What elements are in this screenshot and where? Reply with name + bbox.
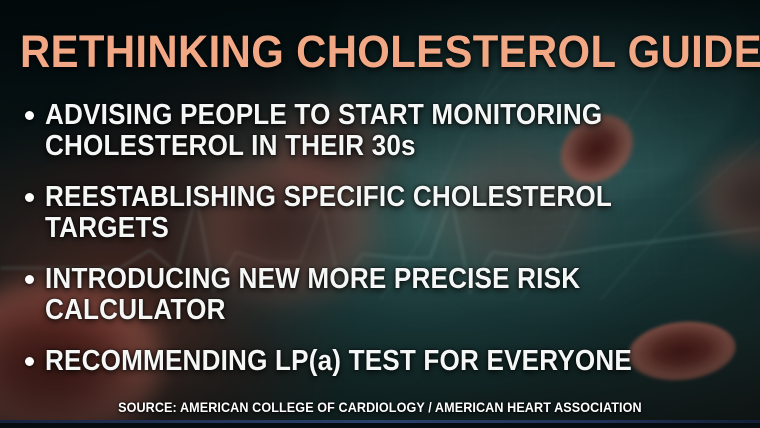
bullet-dot-icon [25, 193, 34, 202]
bottom-letterbox-bar [0, 423, 760, 428]
list-item: INTRODUCING NEW MORE PRECISE RISK CALCUL… [22, 264, 752, 326]
bullet-dot-icon [25, 111, 34, 120]
news-graphic-screen: RETHINKING CHOLESTEROL GUIDELINES ADVISI… [0, 0, 760, 428]
bullet-dot-icon [25, 357, 34, 366]
source-attribution-label: SOURCE: AMERICAN COLLEGE OF CARDIOLOGY /… [118, 399, 642, 416]
source-attribution: SOURCE: AMERICAN COLLEGE OF CARDIOLOGY /… [0, 399, 760, 416]
list-item-label: RECOMMENDING LP(a) TEST FOR EVERYONE [45, 346, 681, 377]
list-item-label: REESTABLISHING SPECIFIC CHOLESTEROL TARG… [45, 182, 681, 244]
list-item-label: INTRODUCING NEW MORE PRECISE RISK CALCUL… [45, 264, 681, 326]
list-item-label: ADVISING PEOPLE TO START MONITORING CHOL… [45, 100, 681, 162]
bullet-dot-icon [25, 275, 34, 284]
page-title: RETHINKING CHOLESTEROL GUIDELINES [20, 27, 695, 77]
list-item: RECOMMENDING LP(a) TEST FOR EVERYONE [22, 346, 752, 377]
list-item: REESTABLISHING SPECIFIC CHOLESTEROL TARG… [22, 182, 752, 244]
list-item: ADVISING PEOPLE TO START MONITORING CHOL… [22, 100, 752, 162]
graphic-content: RETHINKING CHOLESTEROL GUIDELINES ADVISI… [0, 0, 760, 428]
bullet-list: ADVISING PEOPLE TO START MONITORING CHOL… [22, 100, 752, 397]
